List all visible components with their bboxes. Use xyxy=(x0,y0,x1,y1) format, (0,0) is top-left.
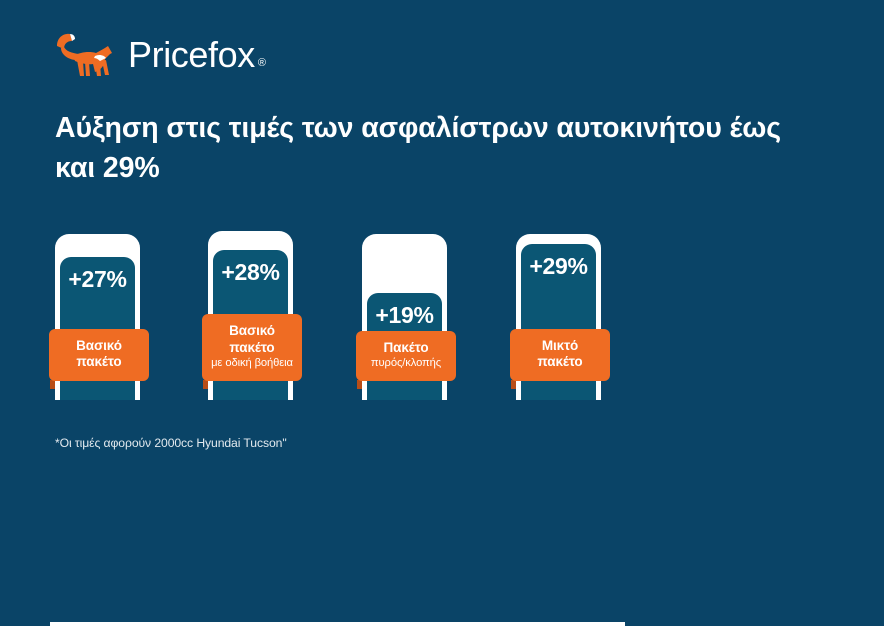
bar-group[interactable]: +19% Πακέτο πυρός/κλοπής xyxy=(357,228,452,400)
bar-value-label: +29% xyxy=(521,253,596,280)
bar-label-line2: πακέτο xyxy=(205,340,299,357)
fox-icon xyxy=(55,32,117,78)
page-title: Aύξηση στις τιμές των ασφαλίστρων αυτοκι… xyxy=(55,108,825,189)
brand-logo[interactable]: Pricefox ® xyxy=(55,32,266,78)
footnote: *Οι τιμές αφορούν 2000cc Hyundai Tucson" xyxy=(55,436,287,450)
bar-label-subtitle: πυρός/κλοπής xyxy=(359,356,453,371)
bar-label-line1: Μικτό xyxy=(513,338,607,355)
bar-label-tag[interactable]: Πακέτο πυρός/κλοπής xyxy=(356,331,456,381)
bar-label-tag[interactable]: Μικτό πακέτο xyxy=(510,329,610,381)
bar-label-line2: πακέτο xyxy=(52,354,146,371)
bar-label-line2: πακέτο xyxy=(513,354,607,371)
bar-label-line1: Βασικό xyxy=(52,338,146,355)
bar-value-label: +27% xyxy=(60,266,135,293)
bar-label-line1: Βασικό xyxy=(205,323,299,340)
bar-group[interactable]: +28% Βασικό πακέτο με οδική βοήθεια xyxy=(203,228,298,400)
registered-mark-icon: ® xyxy=(258,58,266,73)
bar-value-label: +19% xyxy=(367,302,442,329)
brand-name: Pricefox xyxy=(128,37,255,73)
chart-baseline xyxy=(50,622,625,626)
bar-chart: +27% Βασικό πακέτο +28% Βασικό πακέτο με… xyxy=(50,228,630,400)
bar-group[interactable]: +29% Μικτό πακέτο xyxy=(511,228,606,400)
bar-label-subtitle: με οδική βοήθεια xyxy=(205,356,299,371)
bar-value-label: +28% xyxy=(213,259,288,286)
bar-label-tag[interactable]: Βασικό πακέτο με οδική βοήθεια xyxy=(202,314,302,381)
bar-label-line1: Πακέτο xyxy=(359,340,453,357)
bar-label-tag[interactable]: Βασικό πακέτο xyxy=(49,329,149,381)
bar-group[interactable]: +27% Βασικό πακέτο xyxy=(50,228,145,400)
